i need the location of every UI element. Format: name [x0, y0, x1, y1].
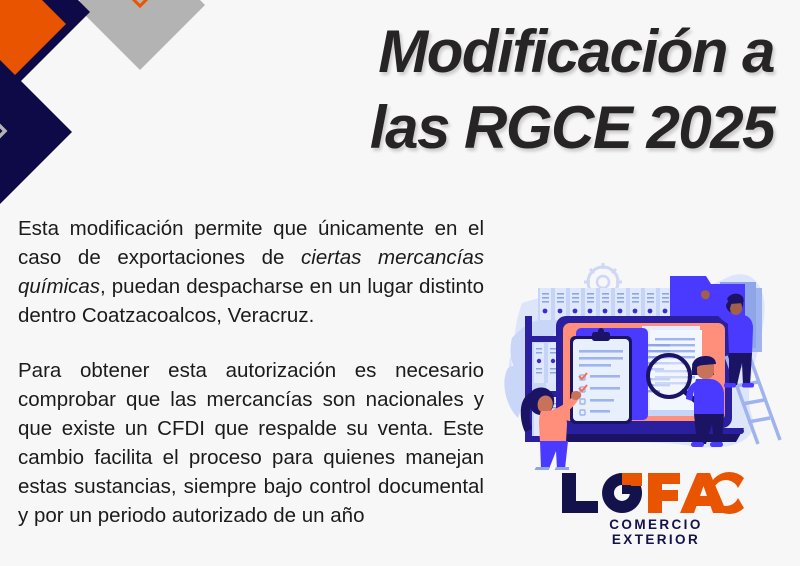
- gray-diamond-icon: [75, 0, 205, 70]
- orange-chevron-icon: [106, 0, 174, 6]
- poster-canvas: Modificación a las RGCE 2025 Esta modifi…: [0, 0, 800, 566]
- lofac-wordmark-icon: [560, 472, 746, 514]
- paragraph-1: Esta modificación permite que únicamente…: [18, 214, 484, 330]
- body-copy: Esta modificación permite que únicamente…: [18, 214, 484, 530]
- navy-diamond-icon: [0, 0, 90, 82]
- orange-diamond-icon: [0, 0, 66, 90]
- document-archive-illustration: [492, 248, 792, 470]
- paragraph-2: Para obtener esta autorización es necesa…: [18, 356, 484, 530]
- title-line-2: las RGCE 2025: [214, 90, 774, 166]
- logo-tagline: COMERCIO EXTERIOR: [568, 517, 744, 547]
- clipboard-checklist-icon: [570, 328, 648, 424]
- poster-title: Modificación a las RGCE 2025: [214, 14, 774, 166]
- lofac-logo: COMERCIO EXTERIOR: [560, 472, 760, 542]
- navy-diamond-outline-icon: [0, 55, 72, 209]
- title-line-1: Modificación a: [214, 14, 774, 90]
